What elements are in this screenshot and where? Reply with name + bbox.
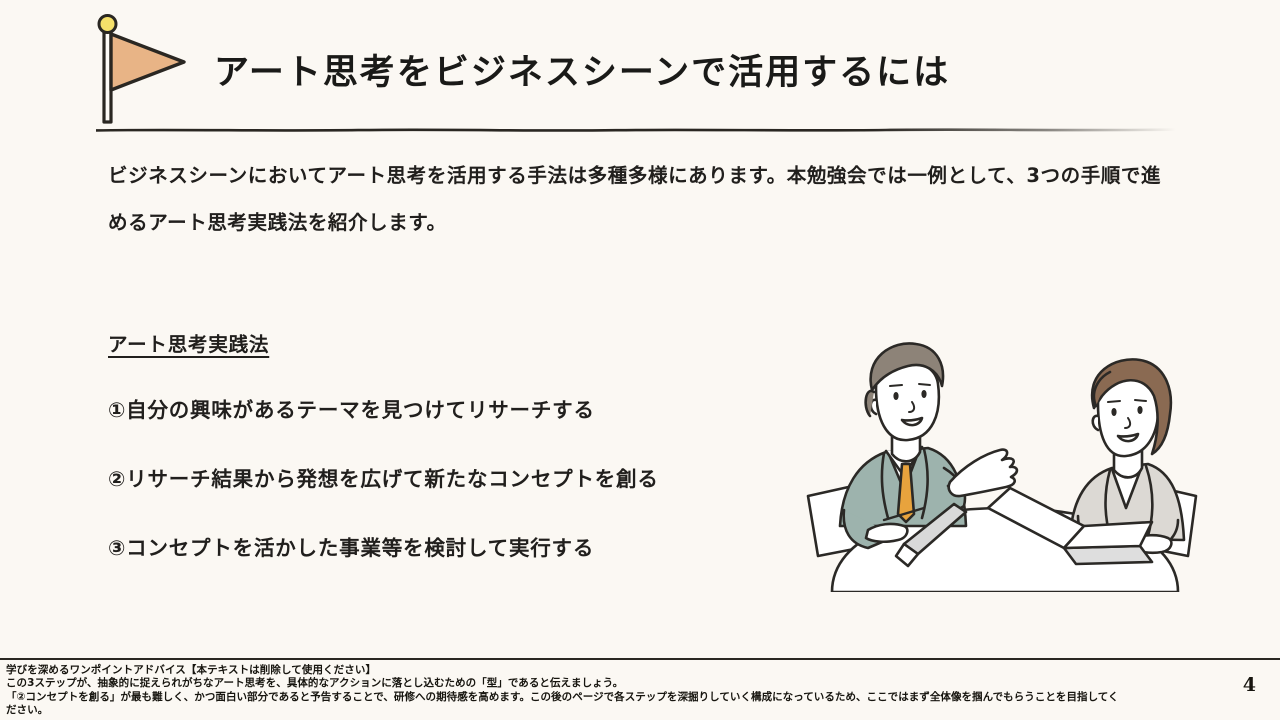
footer-advice-line-3: ださい。 <box>6 704 1146 718</box>
page-number: 4 <box>1243 674 1256 696</box>
two-people-meeting-illustration <box>792 330 1212 592</box>
header-divider <box>96 118 1176 124</box>
page-title: アート思考をビジネスシーンで活用するには <box>214 44 950 95</box>
practice-step-1: ①自分の興味があるテーマを見つけてリサーチする <box>108 393 748 423</box>
practice-step-2: ②リサーチ結果から発想を広げて新たなコンセプトを創る <box>108 462 748 492</box>
slide-header: アート思考をビジネスシーンで活用するには <box>0 0 1280 135</box>
slide-root: アート思考をビジネスシーンで活用するには ビジネスシーンにおいてアート思考を活用… <box>0 0 1280 720</box>
slide-footer: 学びを深めるワンポイントアドバイス【本テキストは削除して使用ください】 この3ス… <box>0 658 1280 720</box>
flag-icon <box>92 14 212 126</box>
footer-advice-block: 学びを深めるワンポイントアドバイス【本テキストは削除して使用ください】 この3ス… <box>6 663 1146 718</box>
footer-advice-line-2: 「②コンセプトを創る」が最も難しく、かつ面白い部分であると予告することで、研修へ… <box>6 691 1146 705</box>
practice-heading: アート思考実践法 <box>108 328 269 357</box>
practice-section: アート思考実践法 ①自分の興味があるテーマを見つけてリサーチする ②リサーチ結果… <box>108 328 748 561</box>
footer-advice-line-1: この3ステップが、抽象的に捉えられがちなアート思考を、具体的なアクションに落とし… <box>6 677 1146 691</box>
practice-step-3: ③コンセプトを活かした事業等を検討して実行する <box>108 531 748 561</box>
footer-advice-title: 学びを深めるワンポイントアドバイス【本テキストは削除して使用ください】 <box>6 663 1146 677</box>
lead-paragraph: ビジネスシーンにおいてアート思考を活用する手法は多種多様にあります。本勉強会では… <box>108 152 1170 246</box>
